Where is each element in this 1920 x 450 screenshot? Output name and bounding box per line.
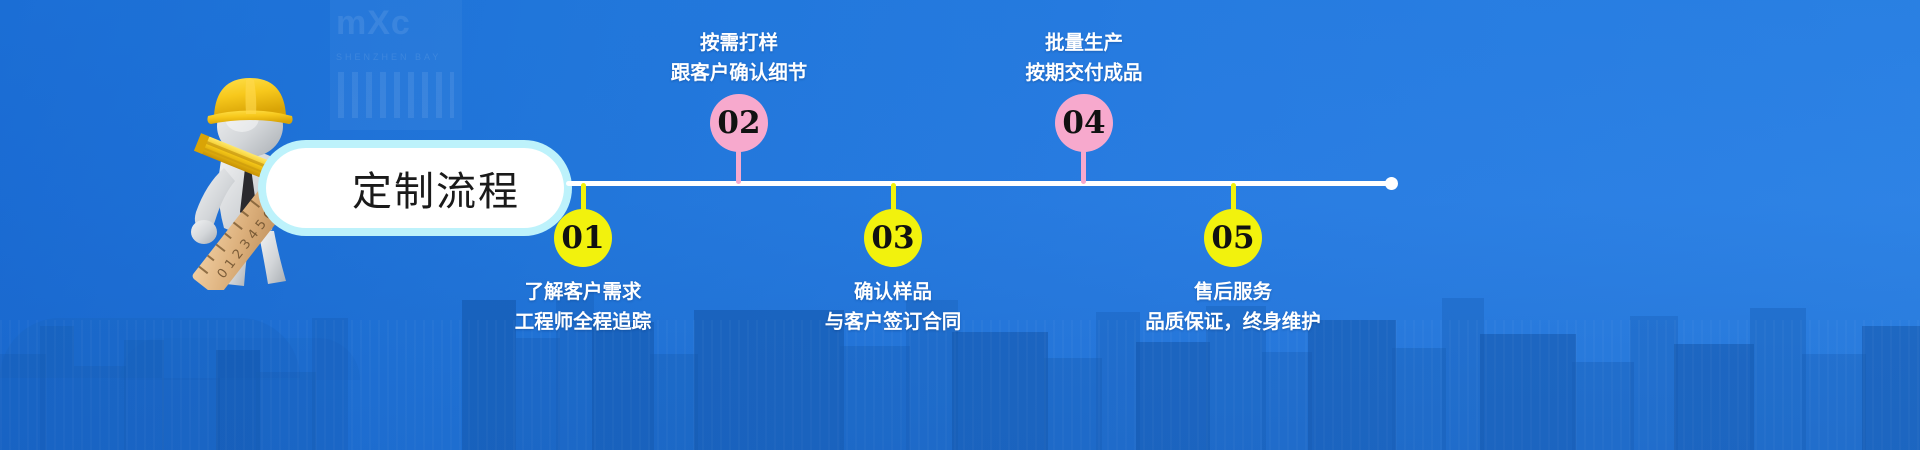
node-circle[interactable]: 05: [1204, 209, 1262, 267]
node-circle[interactable]: 01: [554, 209, 612, 267]
banner-stage: mXc SHENZHEN BAY: [0, 0, 1920, 450]
node-number: 05: [1211, 220, 1254, 256]
node-caption: 批量生产 按期交付成品: [934, 28, 1234, 88]
timeline-axis: [566, 181, 1394, 186]
page-title: 定制流程: [310, 159, 520, 217]
node-number: 01: [561, 220, 604, 256]
title-badge-inner: 定制流程: [266, 148, 564, 228]
node-caption-line1: 了解客户需求: [433, 277, 733, 307]
node-caption-line2: 与客户签订合同: [743, 307, 1043, 337]
node-caption-line2: 品质保证，终身维护: [1083, 307, 1383, 337]
node-stem: [736, 150, 741, 184]
node-circle[interactable]: 02: [710, 94, 768, 152]
node-number: 02: [717, 105, 760, 141]
node-number: 03: [871, 220, 914, 256]
node-caption: 售后服务 品质保证，终身维护: [1083, 277, 1383, 337]
node-number: 04: [1062, 105, 1105, 141]
node-caption: 确认样品 与客户签订合同: [743, 277, 1043, 337]
node-caption-line1: 售后服务: [1083, 277, 1383, 307]
node-caption-line1: 确认样品: [743, 277, 1043, 307]
node-stem: [1081, 150, 1086, 184]
node-caption-line1: 按需打样: [589, 28, 889, 58]
node-caption-line1: 批量生产: [934, 28, 1234, 58]
timeline-end-dot: [1385, 177, 1398, 190]
node-circle[interactable]: 04: [1055, 94, 1113, 152]
node-caption-line2: 跟客户确认细节: [589, 58, 889, 88]
node-caption-line2: 按期交付成品: [934, 58, 1234, 88]
node-caption: 按需打样 跟客户确认细节: [589, 28, 889, 88]
node-circle[interactable]: 03: [864, 209, 922, 267]
node-caption-line2: 工程师全程追踪: [433, 307, 733, 337]
node-caption: 了解客户需求 工程师全程追踪: [433, 277, 733, 337]
title-badge: 定制流程: [258, 140, 572, 236]
